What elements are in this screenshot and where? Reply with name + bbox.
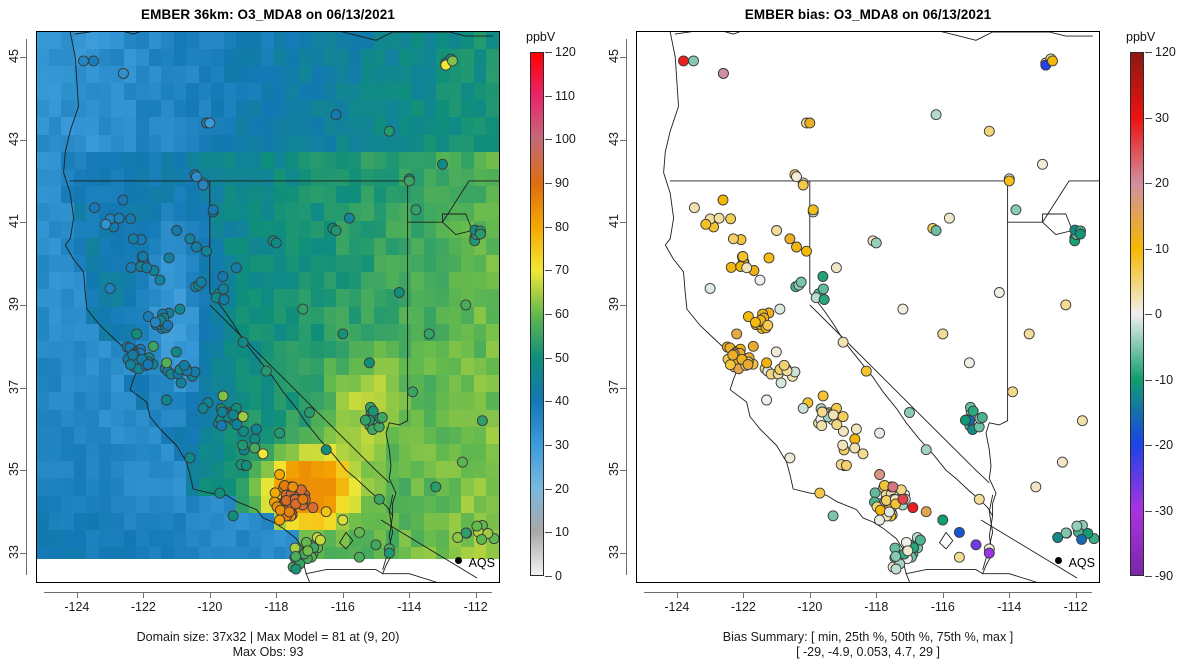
bias-map-overlay — [637, 32, 1099, 582]
aqs-legend-dot-bias — [1055, 557, 1062, 564]
colorbar-gradient — [530, 52, 544, 576]
footer-bias: Bias Summary: [ min, 25th %, 50th %, 75t… — [600, 630, 1136, 660]
page-title: EMBER 36km: O3_MDA8 on 06/13/2021 — [0, 7, 536, 22]
footer-model: Domain size: 37x32 | Max Model = 81 at (… — [0, 630, 536, 660]
map-plot-area-model: AQS — [36, 31, 500, 583]
page-title-bias: EMBER bias: O3_MDA8 on 06/13/2021 — [600, 7, 1136, 22]
footer-line-2: Max Obs: 93 — [0, 645, 536, 660]
footer-line-1: Domain size: 37x32 | Max Model = 81 at (… — [0, 630, 536, 645]
panel-bias: EMBER bias: O3_MDA8 on 06/13/2021 AQS -1… — [600, 0, 1200, 672]
map-plot-area-bias: AQS — [636, 31, 1100, 583]
model-map-overlay — [37, 32, 499, 582]
figure-root: EMBER 36km: O3_MDA8 on 06/13/2021 AQS -1… — [0, 0, 1200, 672]
footer-line-2-bias: [ -29, -4.9, 0.053, 4.7, 29 ] — [600, 645, 1136, 660]
colorbar-unit-label: ppbV — [526, 30, 555, 44]
colorbar-gradient-bias — [1130, 52, 1144, 576]
aqs-legend-dot — [455, 557, 462, 564]
aqs-legend-label: AQS — [469, 556, 495, 570]
footer-line-1-bias: Bias Summary: [ min, 25th %, 50th %, 75t… — [600, 630, 1136, 645]
panel-model: EMBER 36km: O3_MDA8 on 06/13/2021 AQS -1… — [0, 0, 600, 672]
colorbar-unit-label-bias: ppbV — [1126, 30, 1155, 44]
aqs-legend-label-bias: AQS — [1069, 556, 1095, 570]
